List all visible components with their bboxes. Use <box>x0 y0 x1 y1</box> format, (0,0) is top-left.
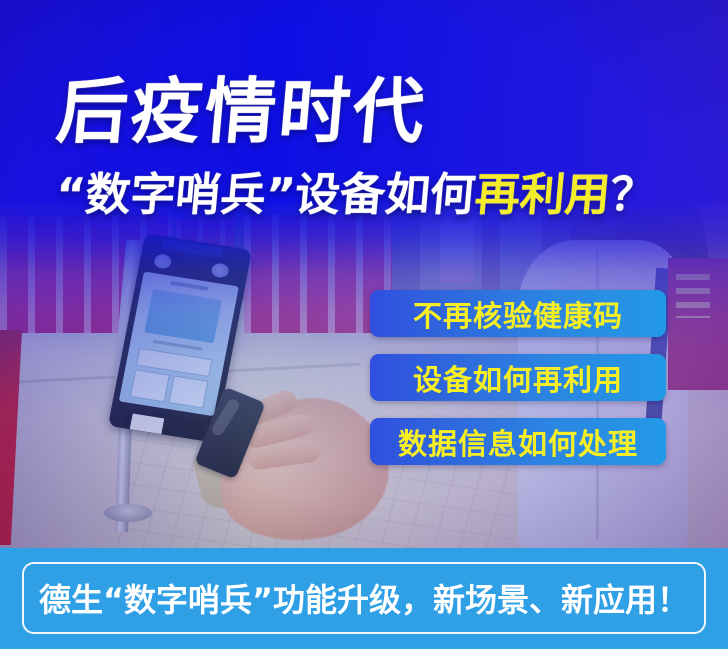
bottom-banner: 德生“数字哨兵”功能升级，新场景、新应用！ <box>0 548 728 649</box>
topic-pill[interactable]: 不再核验健康码 <box>370 290 666 337</box>
banner-text: 德生“数字哨兵”功能升级，新场景、新应用！ <box>39 575 689 621</box>
page-subtitle: “数字哨兵”设备如何再利用？ <box>54 172 657 217</box>
topic-pill[interactable]: 数据信息如何处理 <box>370 418 666 465</box>
topic-pill[interactable]: 设备如何再利用 <box>370 354 666 401</box>
topic-pill-list: 不再核验健康码 设备如何再利用 数据信息如何处理 <box>370 290 666 465</box>
subtitle-suffix: ？ <box>608 168 658 221</box>
page-title: 后疫情时代 <box>54 76 430 147</box>
banner-top-line <box>0 548 728 556</box>
topic-pill-label: 数据信息如何处理 <box>398 421 638 463</box>
promo-poster: 后疫情时代 “数字哨兵”设备如何再利用？ 不再核验健康码 设备如何再利用 数据信… <box>0 0 728 649</box>
topic-pill-label: 不再核验健康码 <box>413 293 623 335</box>
topic-pill-label: 设备如何再利用 <box>413 357 623 399</box>
subtitle-highlight: 再利用 <box>473 168 613 221</box>
subtitle-prefix: “数字哨兵”设备如何 <box>54 168 478 221</box>
banner-frame: 德生“数字哨兵”功能升级，新场景、新应用！ <box>22 562 706 634</box>
